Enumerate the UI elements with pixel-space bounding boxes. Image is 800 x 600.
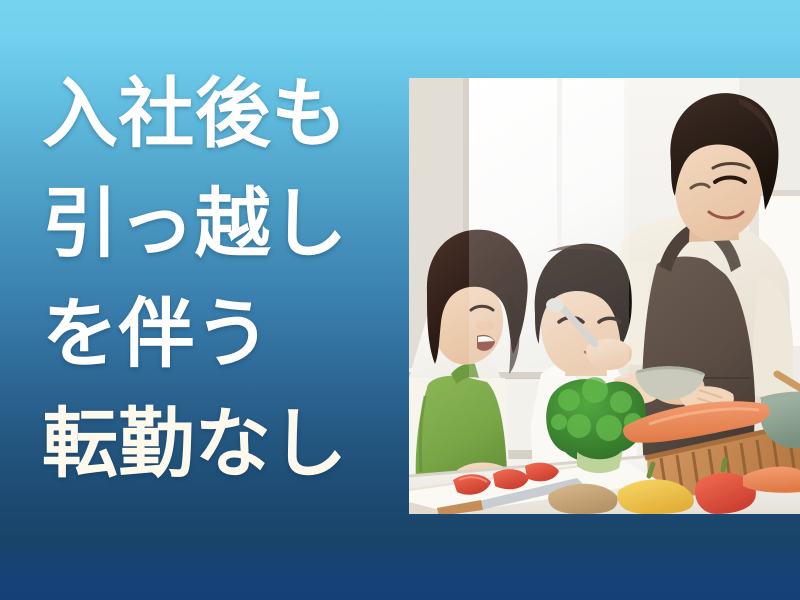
headline-line-3: を伴う [42,296,392,372]
headline-line-1: 入社後も [42,76,392,152]
headline-line-4: 転勤なし [42,406,392,482]
headline-block: 入社後も 引っ越し を伴う 転勤なし [42,76,392,482]
headline-line-2: 引っ越し [42,186,392,262]
promo-banner: 入社後も 引っ越し を伴う 転勤なし [0,0,800,600]
photo-illustration [409,78,800,514]
family-cooking-photo [409,78,800,514]
